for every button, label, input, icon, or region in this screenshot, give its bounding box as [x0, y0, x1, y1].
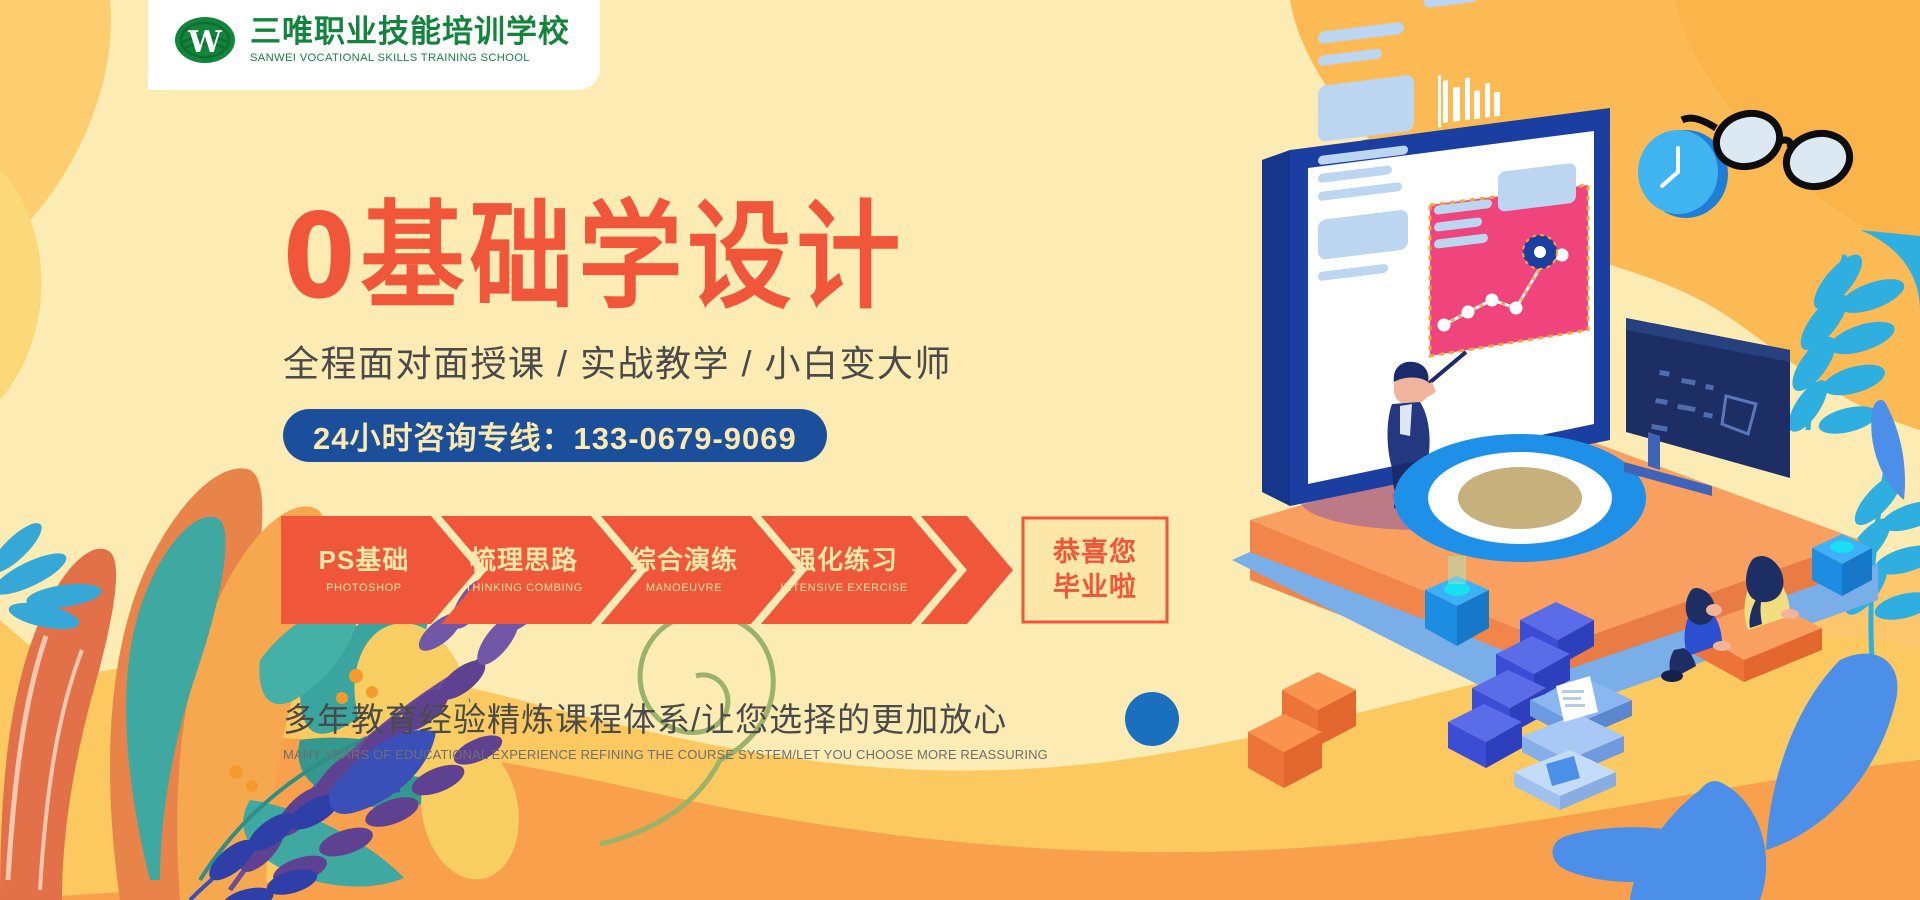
leaf-accent-right: [1871, 400, 1905, 500]
step-4[interactable]: 强化练习 INTENSIVE EXERCISE: [769, 516, 919, 624]
footer-tagline: 多年教育经验精炼课程体系/让您选择的更加放心 MANY YEARS OF EDU…: [283, 693, 1048, 762]
screen-top-bars: [1424, 0, 1584, 8]
step-2[interactable]: 梳理思路 THINKING COMBING: [449, 516, 599, 624]
chalkboard-stand: [1648, 432, 1660, 470]
tagline-en: MANY YEARS OF EDUCATIONAL EXPERIENCE REF…: [283, 747, 1048, 762]
step-3[interactable]: 综合演练 MANOEUVRE: [609, 516, 759, 624]
svg-text:W: W: [187, 25, 223, 60]
step-4-en: INTENSIVE EXERCISE: [780, 582, 908, 594]
logo-name-en: SANWEI VOCATIONAL SKILLS TRAINING SCHOOL: [250, 52, 570, 64]
highlight-node: [1523, 235, 1557, 269]
tagline-cn: 多年教育经验精炼课程体系/让您选择的更加放心: [283, 693, 1048, 741]
page-title: 0基础学设计: [283, 196, 952, 318]
step-5-graduation[interactable]: 恭喜您 毕业啦: [1023, 516, 1167, 624]
presenter-shirt: [1400, 404, 1412, 436]
step-5-cn: 恭喜您 毕业啦: [1053, 535, 1137, 605]
dark-blue-chalkboard: [1624, 318, 1790, 496]
hero-copy: 0基础学设计 全程面对面授课 / 实战教学 / 小白变大师 24小时咨询专线：1…: [283, 196, 952, 462]
logo-name-cn: 三唯职业技能培训学校: [250, 16, 570, 49]
logo-card[interactable]: W 三唯职业技能培训学校 SANWEI VOCATIONAL SKILLS TR…: [148, 0, 600, 90]
step-1-en: PHOTOSHOP: [326, 582, 402, 594]
step-4-cn: 强化练习: [790, 546, 898, 576]
step-2-cn: 梳理思路: [470, 546, 578, 576]
step-1[interactable]: PS基础 PHOTOSHOP: [289, 516, 439, 624]
phone-cta[interactable]: 24小时咨询专线：133-0679-9069: [283, 409, 827, 462]
banner-root: W 三唯职业技能培训学校 SANWEI VOCATIONAL SKILLS TR…: [0, 0, 1920, 900]
step-3-en: MANOEUVRE: [646, 582, 722, 594]
course-steps: PS基础 PHOTOSHOP 梳理思路 THINKING COMBING 综合演…: [281, 516, 1169, 624]
blue-ring-rug: [1394, 434, 1646, 562]
orange-step-blocks: [1248, 672, 1356, 788]
logo-mark-icon: W: [174, 14, 236, 66]
white-bar-chart: [1438, 75, 1500, 127]
hero-subtitle: 全程面对面授课 / 实战教学 / 小白变大师: [283, 335, 952, 387]
logo-text: 三唯职业技能培训学校 SANWEI VOCATIONAL SKILLS TRAI…: [250, 16, 570, 64]
large-blue-monitor: [1262, 0, 1610, 506]
step-1-cn: PS基础: [319, 546, 410, 576]
step-3-cn: 综合演练: [630, 546, 738, 576]
monitor-frame-side: [1262, 150, 1290, 506]
step-2-en: THINKING COMBING: [465, 582, 583, 594]
